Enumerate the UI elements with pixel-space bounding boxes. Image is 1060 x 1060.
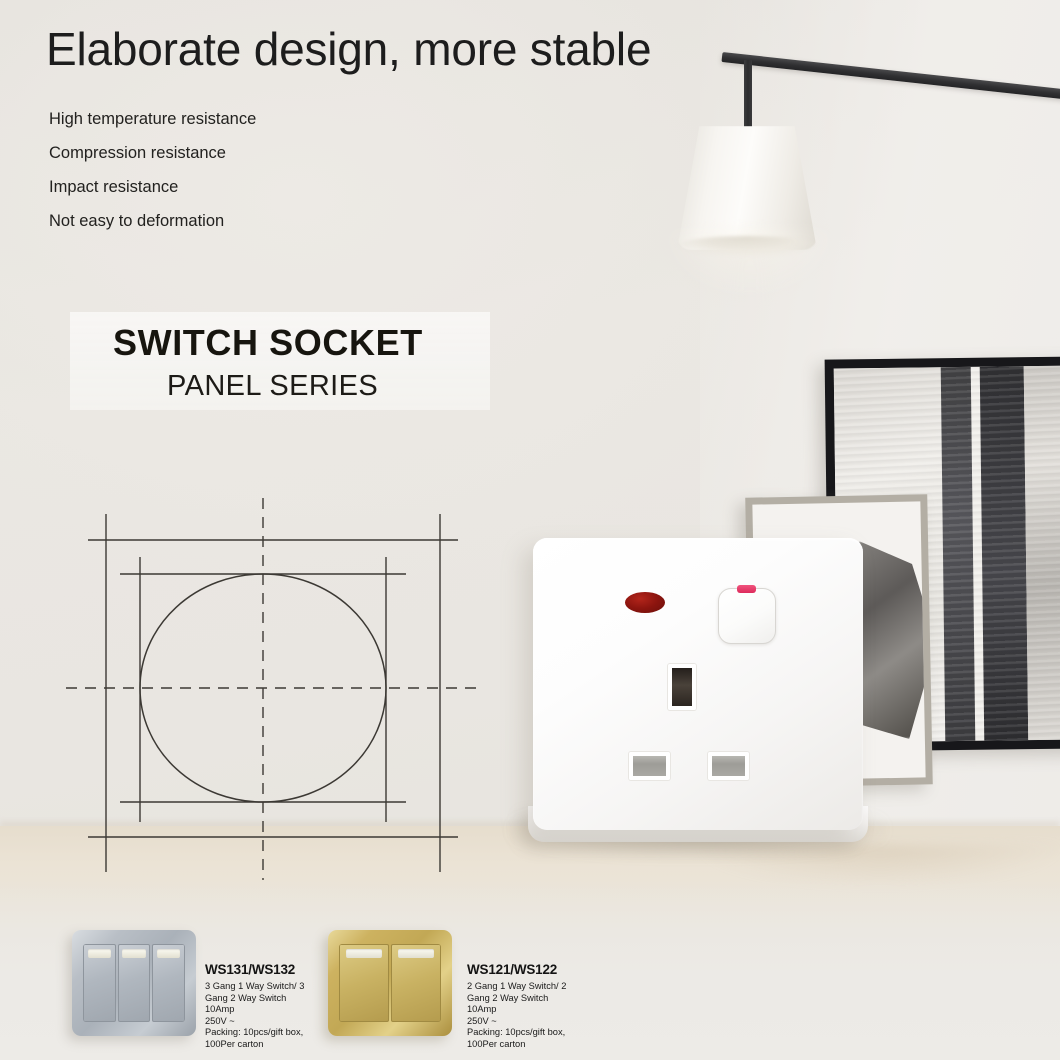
spec-model: WS131/WS132 (205, 962, 385, 977)
indicator-strip-icon (157, 949, 180, 958)
spec-line: 3 Gang 1 Way Switch/ 3 (205, 981, 385, 993)
feature-list: High temperature resistance Compression … (49, 110, 469, 246)
live-pin-slot (629, 752, 670, 780)
indicator-strip-icon (88, 949, 111, 958)
spec-line: Gang 2 Way Switch (467, 993, 647, 1005)
spec-line: 250V ~ (467, 1016, 647, 1028)
spec-line: 100Per carton (205, 1039, 385, 1051)
socket-faceplate (533, 538, 863, 830)
spec-line: Gang 2 Way Switch (205, 993, 385, 1005)
technical-drawing (58, 492, 488, 884)
rocker-2[interactable] (391, 944, 441, 1022)
spec-line: Packing: 10pcs/gift box, (467, 1027, 647, 1039)
spec-block-ws121: WS121/WS122 2 Gang 1 Way Switch/ 2 Gang … (467, 962, 647, 1051)
feature-item: Impact resistance (49, 178, 469, 197)
rocker-1[interactable] (83, 944, 116, 1022)
spec-line: 2 Gang 1 Way Switch/ 2 (467, 981, 647, 993)
earth-pin-slot (668, 664, 696, 710)
feature-item: Not easy to deformation (49, 212, 469, 231)
spec-line: 100Per carton (467, 1039, 647, 1051)
product-thumbnail-silver (72, 930, 196, 1036)
rocker-2[interactable] (118, 944, 151, 1022)
feature-item: High temperature resistance (49, 110, 469, 129)
product-marketing-image: Elaborate design, more stable High tempe… (0, 0, 1060, 1060)
indicator-strip-icon (122, 949, 145, 958)
switch-face-silver (83, 944, 185, 1022)
lamp-glow (660, 230, 840, 300)
spec-block-ws131: WS131/WS132 3 Gang 1 Way Switch/ 3 Gang … (205, 962, 385, 1051)
spec-line: Packing: 10pcs/gift box, (205, 1027, 385, 1039)
indicator-strip-icon (398, 949, 434, 958)
neutral-pin-slot (708, 752, 749, 780)
neon-indicator-icon (625, 592, 665, 613)
product-title: SWITCH SOCKET (113, 322, 423, 364)
indicator-strip-icon (346, 949, 382, 958)
spec-model: WS121/WS122 (467, 962, 647, 977)
rocker-3[interactable] (152, 944, 185, 1022)
page-headline: Elaborate design, more stable (46, 22, 651, 76)
feature-item: Compression resistance (49, 144, 469, 163)
spec-line: 10Amp (467, 1004, 647, 1016)
spec-line: 250V ~ (205, 1016, 385, 1028)
rocker-switch-marker (737, 585, 756, 593)
lamp-stem-icon (744, 60, 752, 130)
spec-line: 10Amp (205, 1004, 385, 1016)
product-subtitle: PANEL SERIES (167, 370, 378, 403)
rocker-switch[interactable] (718, 588, 776, 644)
